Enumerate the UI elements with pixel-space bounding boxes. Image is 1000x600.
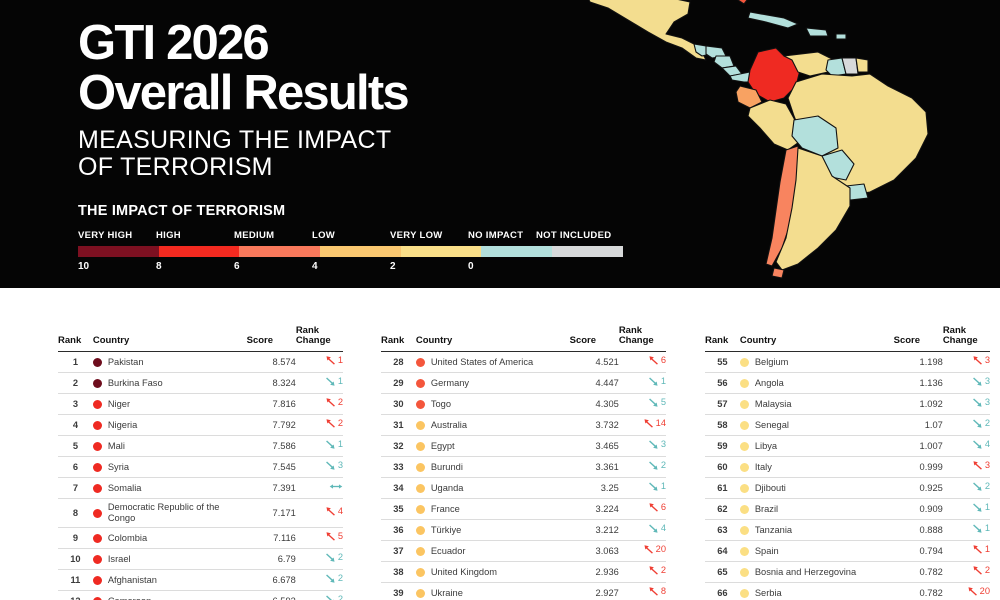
table-row[interactable]: 10Israel6.792	[58, 549, 343, 570]
cell-score: 6.593	[247, 591, 296, 600]
rank-down-arrow-icon	[648, 397, 659, 408]
impact-level-dot-icon	[93, 421, 102, 430]
map-region-florida	[736, 0, 750, 4]
cell-score: 3.732	[570, 415, 619, 436]
cell-score: 3.361	[570, 457, 619, 478]
table-row[interactable]: 60Italy0.9993	[705, 457, 990, 478]
cell-country: Cameroon	[93, 591, 247, 600]
impact-level-dot-icon	[93, 442, 102, 451]
cell-rank: 65	[705, 562, 740, 583]
map-region-bolivia	[792, 116, 838, 156]
cell-rank-change: 1	[619, 478, 666, 499]
cell-rank: 31	[381, 415, 416, 436]
cell-country: Pakistan	[93, 352, 247, 373]
impact-legend: THE IMPACT OF TERRORISM VERY HIGHHIGHMED…	[78, 203, 623, 275]
column-header-rank-change[interactable]: RankChange	[619, 326, 666, 352]
cell-rank: 64	[705, 541, 740, 562]
map-region-panama	[730, 72, 762, 82]
rank-up-arrow-icon	[967, 586, 978, 597]
cell-rank-change: 20	[943, 583, 990, 600]
rank-change-indicator: 2	[972, 565, 990, 576]
table-row[interactable]: 56Angola1.1363	[705, 373, 990, 394]
table-row[interactable]: 30Togo4.3055	[381, 394, 666, 415]
cell-country: Spain	[740, 541, 894, 562]
rank-change-value: 14	[656, 418, 666, 429]
table-row[interactable]: 5Mali7.5861	[58, 436, 343, 457]
column-header-rank-change[interactable]: RankChange	[943, 326, 990, 352]
rank-change-value: 1	[661, 481, 666, 492]
map-region-french-guiana	[856, 58, 868, 72]
cell-score: 1.007	[894, 436, 943, 457]
cell-score: 4.447	[570, 373, 619, 394]
column-header-score[interactable]: Score	[247, 326, 296, 352]
impact-level-dot-icon	[93, 534, 102, 543]
rank-up-arrow-icon	[972, 460, 983, 471]
rank-change-indicator: 4	[972, 439, 990, 450]
cell-score: 7.116	[247, 528, 296, 549]
map-region-uruguay	[846, 184, 868, 200]
country-name-label: Democratic Republic of the Congo	[108, 502, 247, 524]
table-row[interactable]: 61Djibouti0.9252	[705, 478, 990, 499]
cell-rank-change: 3	[943, 394, 990, 415]
cell-rank: 2	[58, 373, 93, 394]
map-region-cuba	[748, 12, 798, 28]
map-region-puerto-rico	[836, 34, 846, 39]
cell-rank-change: 3	[619, 436, 666, 457]
impact-level-dot-icon	[740, 358, 749, 367]
rank-up-arrow-icon	[325, 531, 336, 542]
world-map-choropleth	[570, 0, 1000, 288]
cell-score: 6.79	[247, 549, 296, 570]
table-row[interactable]: 28United States of America4.5216	[381, 352, 666, 373]
cell-country: Mali	[93, 436, 247, 457]
cell-rank-change: 2	[943, 415, 990, 436]
rank-change-indicator	[329, 481, 343, 492]
cell-score: 7.391	[247, 478, 296, 499]
rank-up-arrow-icon	[972, 565, 983, 576]
impact-level-dot-icon	[416, 526, 425, 535]
rank-change-indicator: 3	[972, 376, 990, 387]
cell-rank: 12	[58, 591, 93, 600]
table-row[interactable]: 6Syria7.5453	[58, 457, 343, 478]
cell-rank-change: 3	[943, 457, 990, 478]
impact-level-dot-icon	[416, 589, 425, 598]
rank-change-value: 2	[985, 481, 990, 492]
rank-down-arrow-icon	[325, 460, 336, 471]
cell-score: 3.212	[570, 520, 619, 541]
cell-rank-change: 4	[296, 499, 343, 528]
rank-change-value: 3	[985, 376, 990, 387]
table-row[interactable]: 1Pakistan8.5741	[58, 352, 343, 373]
cell-rank-change: 2	[296, 394, 343, 415]
table-row[interactable]: 66Serbia0.78220	[705, 583, 990, 600]
rank-change-value: 1	[338, 439, 343, 450]
impact-level-dot-icon	[93, 484, 102, 493]
cell-rank-change: 5	[296, 528, 343, 549]
cell-country: Burkina Faso	[93, 373, 247, 394]
impact-level-dot-icon	[740, 442, 749, 451]
rank-change-indicator: 1	[325, 355, 343, 366]
cell-score: 1.136	[894, 373, 943, 394]
rank-change-value: 5	[661, 397, 666, 408]
cell-score: 0.888	[894, 520, 943, 541]
rank-down-arrow-icon	[648, 460, 659, 471]
cell-rank: 55	[705, 352, 740, 373]
cell-rank-change: 2	[296, 591, 343, 600]
country-name-label: Germany	[431, 378, 469, 389]
rank-change-indicator: 1	[972, 523, 990, 534]
cell-rank-change: 2	[619, 562, 666, 583]
impact-level-dot-icon	[740, 568, 749, 577]
rank-change-indicator: 3	[972, 460, 990, 471]
impact-level-dot-icon	[416, 484, 425, 493]
map-region-venezuela	[784, 52, 834, 76]
rank-up-arrow-icon	[643, 544, 654, 555]
table-row[interactable]: 39Ukraine2.9278	[381, 583, 666, 600]
map-region-ecuador	[736, 86, 762, 108]
cell-score: 2.927	[570, 583, 619, 600]
impact-level-dot-icon	[740, 589, 749, 598]
rank-change-value: 20	[980, 586, 990, 597]
country-name-label: Italy	[755, 462, 772, 473]
cell-rank: 6	[58, 457, 93, 478]
legend-tick-5: 0	[468, 261, 474, 272]
cell-rank-change: 2	[296, 570, 343, 591]
impact-level-dot-icon	[416, 400, 425, 409]
rank-change-indicator: 2	[325, 552, 343, 563]
table-row[interactable]: 64Spain0.7941	[705, 541, 990, 562]
cell-score: 7.545	[247, 457, 296, 478]
country-name-label: Syria	[108, 462, 129, 473]
cell-rank-change: 14	[619, 415, 666, 436]
cell-rank-change	[296, 478, 343, 499]
cell-country: Tanzania	[740, 520, 894, 541]
rank-change-value: 1	[985, 544, 990, 555]
rank-change-indicator: 1	[648, 376, 666, 387]
rank-change-indicator: 1	[325, 376, 343, 387]
cell-country: Togo	[416, 394, 570, 415]
table-row[interactable]: 12Cameroon6.5932	[58, 591, 343, 600]
cell-rank-change: 3	[296, 457, 343, 478]
rank-down-arrow-icon	[648, 481, 659, 492]
cell-rank-change: 6	[619, 352, 666, 373]
table-row[interactable]: 55Belgium1.1983	[705, 352, 990, 373]
cell-country: Italy	[740, 457, 894, 478]
cell-rank-change: 6	[619, 499, 666, 520]
rank-change-value: 8	[661, 586, 666, 597]
table-row[interactable]: 65Bosnia and Herzegovina0.7822	[705, 562, 990, 583]
rank-change-value: 4	[661, 523, 666, 534]
legend-tick-3: 4	[312, 261, 318, 272]
table-row[interactable]: 58Senegal1.072	[705, 415, 990, 436]
table-row[interactable]: 2Burkina Faso8.3241	[58, 373, 343, 394]
map-region-chile	[766, 146, 800, 266]
column-header-score[interactable]: Score	[894, 326, 943, 352]
impact-level-dot-icon	[93, 509, 102, 518]
table-row[interactable]: 57Malaysia1.0923	[705, 394, 990, 415]
rank-up-arrow-icon	[325, 355, 336, 366]
column-header-rank[interactable]: Rank	[705, 326, 740, 352]
cell-country: Nigeria	[93, 415, 247, 436]
country-name-label: Pakistan	[108, 357, 144, 368]
cell-country: Israel	[93, 549, 247, 570]
country-name-label: Togo	[431, 399, 451, 410]
column-header-rank[interactable]: Rank	[381, 326, 416, 352]
column-header-rank-change[interactable]: RankChange	[296, 326, 343, 352]
impact-level-dot-icon	[93, 597, 102, 600]
map-region-honduras	[706, 46, 726, 58]
map-region-nicaragua	[714, 56, 734, 68]
cell-rank: 5	[58, 436, 93, 457]
table-row[interactable]: 63Tanzania0.8881	[705, 520, 990, 541]
rank-change-value: 2	[985, 565, 990, 576]
cell-rank-change: 1	[943, 541, 990, 562]
rank-up-arrow-icon	[325, 397, 336, 408]
legend-tick-1: 8	[156, 261, 162, 272]
column-header-country[interactable]: Country	[740, 326, 894, 352]
rank-change-indicator: 3	[325, 460, 343, 471]
impact-level-dot-icon	[416, 442, 425, 451]
map-svg	[570, 0, 1000, 288]
cell-score: 7.586	[247, 436, 296, 457]
impact-level-dot-icon	[416, 547, 425, 556]
country-name-label: Türkiye	[431, 525, 461, 536]
rank-change-value: 3	[338, 460, 343, 471]
cell-rank: 56	[705, 373, 740, 394]
rank-change-indicator: 2	[325, 573, 343, 584]
cell-rank: 37	[381, 541, 416, 562]
cell-score: 3.224	[570, 499, 619, 520]
cell-rank-change: 2	[943, 478, 990, 499]
rank-change-value: 5	[338, 531, 343, 542]
rank-change-indicator: 2	[325, 594, 343, 600]
rank-change-value: 2	[338, 573, 343, 584]
impact-level-dot-icon	[740, 505, 749, 514]
legend-label-2: MEDIUM	[234, 230, 274, 241]
legend-segment-no-impact	[481, 246, 552, 257]
rank-change-value: 1	[338, 355, 343, 366]
table-row[interactable]: 3Niger7.8162	[58, 394, 343, 415]
map-region-mexico	[584, 0, 706, 60]
column-header-country[interactable]: Country	[416, 326, 570, 352]
rank-down-arrow-icon	[648, 376, 659, 387]
rank-change-indicator: 2	[325, 397, 343, 408]
gti-overall-results-page: GTI 2026 Overall Results MEASURING THE I…	[0, 0, 1000, 600]
country-name-label: Burundi	[431, 462, 463, 473]
column-header-score[interactable]: Score	[570, 326, 619, 352]
rank-change-value: 4	[338, 506, 343, 517]
country-name-label: Bosnia and Herzegovina	[755, 567, 856, 578]
table-row[interactable]: 32Egypt3.4653	[381, 436, 666, 457]
impact-level-dot-icon	[740, 400, 749, 409]
table-row[interactable]: 7Somalia7.391	[58, 478, 343, 499]
cell-rank-change: 4	[943, 436, 990, 457]
table-row[interactable]: 4Nigeria7.7922	[58, 415, 343, 436]
cell-score: 8.324	[247, 373, 296, 394]
map-region-suriname	[842, 58, 858, 74]
country-name-label: Afghanistan	[108, 575, 157, 586]
table-row[interactable]: 59Libya1.0074	[705, 436, 990, 457]
cell-rank-change: 1	[296, 352, 343, 373]
hero-text-block: GTI 2026 Overall Results MEASURING THE I…	[78, 18, 408, 181]
rank-change-indicator: 1	[648, 481, 666, 492]
map-region-guyana	[826, 58, 846, 76]
cell-rank: 8	[58, 499, 93, 528]
rank-change-indicator: 4	[325, 506, 343, 517]
country-name-label: France	[431, 504, 460, 515]
rank-up-arrow-icon	[325, 506, 336, 517]
rank-change-indicator: 20	[967, 586, 990, 597]
rank-change-indicator: 3	[648, 439, 666, 450]
rank-down-arrow-icon	[325, 376, 336, 387]
impact-level-dot-icon	[740, 421, 749, 430]
map-background	[570, 0, 1000, 288]
rank-change-indicator: 6	[648, 355, 666, 366]
legend-label-3: LOW	[312, 230, 335, 241]
cell-rank: 11	[58, 570, 93, 591]
cell-rank-change: 3	[943, 373, 990, 394]
cell-rank: 62	[705, 499, 740, 520]
legend-label-6: NOT INCLUDED	[536, 230, 611, 241]
table-row[interactable]: 31Australia3.73214	[381, 415, 666, 436]
rank-down-arrow-icon	[972, 523, 983, 534]
country-name-label: Ukraine	[431, 588, 463, 599]
impact-level-dot-icon	[93, 463, 102, 472]
table-row[interactable]: 38United Kingdom2.9362	[381, 562, 666, 583]
country-name-label: Mali	[108, 441, 125, 452]
table-row[interactable]: 33Burundi3.3612	[381, 457, 666, 478]
rank-change-value: 1	[661, 376, 666, 387]
results-table-column-1: RankCountryScoreRankChange1Pakistan8.574…	[58, 326, 343, 600]
legend-segment-not-included	[552, 246, 623, 257]
country-name-label: Somalia	[108, 483, 142, 494]
rank-change-value: 2	[661, 565, 666, 576]
results-table-2: RankCountryScoreRankChange28United State…	[381, 326, 666, 600]
results-table-1: RankCountryScoreRankChange1Pakistan8.574…	[58, 326, 343, 600]
impact-level-dot-icon	[416, 463, 425, 472]
cell-rank-change: 1	[296, 436, 343, 457]
cell-rank-change: 1	[943, 520, 990, 541]
rank-down-arrow-icon	[972, 376, 983, 387]
country-name-label: Cameroon	[108, 596, 151, 600]
table-row[interactable]: 9Colombia7.1165	[58, 528, 343, 549]
cell-country: United Kingdom	[416, 562, 570, 583]
impact-level-dot-icon	[93, 379, 102, 388]
cell-country: Bosnia and Herzegovina	[740, 562, 894, 583]
cell-rank: 10	[58, 549, 93, 570]
rank-change-indicator: 2	[972, 418, 990, 429]
table-row[interactable]: 62Brazil0.9091	[705, 499, 990, 520]
legend-color-bar	[78, 246, 623, 257]
cell-score: 0.794	[894, 541, 943, 562]
cell-rank-change: 2	[943, 562, 990, 583]
table-header-row: RankCountryScoreRankChange	[705, 326, 990, 352]
country-name-label: Angola	[755, 378, 784, 389]
rank-change-value: 3	[985, 397, 990, 408]
table-row[interactable]: 11Afghanistan6.6782	[58, 570, 343, 591]
table-row[interactable]: 37Ecuador3.06320	[381, 541, 666, 562]
cell-rank-change: 2	[619, 457, 666, 478]
rank-change-value: 3	[985, 460, 990, 471]
cell-rank-change: 3	[943, 352, 990, 373]
rank-up-arrow-icon	[648, 502, 659, 513]
cell-score: 8.574	[247, 352, 296, 373]
cell-rank: 34	[381, 478, 416, 499]
table-row[interactable]: 29Germany4.4471	[381, 373, 666, 394]
cell-rank: 30	[381, 394, 416, 415]
country-name-label: Australia	[431, 420, 467, 431]
cell-rank: 39	[381, 583, 416, 600]
cell-score: 3.063	[570, 541, 619, 562]
legend-label-1: HIGH	[156, 230, 181, 241]
cell-country: Germany	[416, 373, 570, 394]
rank-down-arrow-icon	[325, 552, 336, 563]
cell-country: Brazil	[740, 499, 894, 520]
impact-level-dot-icon	[93, 555, 102, 564]
cell-score: 1.092	[894, 394, 943, 415]
legend-tick-0: 10	[78, 261, 89, 272]
legend-segment-medium	[239, 246, 320, 257]
rank-down-arrow-icon	[972, 439, 983, 450]
cell-country: Serbia	[740, 583, 894, 600]
cell-rank: 63	[705, 520, 740, 541]
cell-score: 6.678	[247, 570, 296, 591]
table-row[interactable]: 8Democratic Republic of the Congo7.1714	[58, 499, 343, 528]
page-title-line-2: Overall Results	[78, 68, 408, 118]
country-name-label: Ecuador	[431, 546, 466, 557]
results-table-3: RankCountryScoreRankChange55Belgium1.198…	[705, 326, 990, 600]
rank-change-value: 2	[338, 594, 343, 600]
column-header-country[interactable]: Country	[93, 326, 247, 352]
table-row[interactable]: 36Türkiye3.2124	[381, 520, 666, 541]
results-table-column-2: RankCountryScoreRankChange28United State…	[381, 326, 666, 600]
legend-labels: VERY HIGHHIGHMEDIUMLOWVERY LOWNO IMPACTN…	[78, 230, 623, 242]
country-name-label: United States of America	[431, 357, 533, 368]
table-row[interactable]: 34Uganda3.251	[381, 478, 666, 499]
cell-rank-change: 8	[619, 583, 666, 600]
cell-country: Türkiye	[416, 520, 570, 541]
map-region-brazil	[788, 74, 928, 196]
cell-country: France	[416, 499, 570, 520]
rank-change-indicator: 20	[643, 544, 666, 555]
rank-change-indicator: 4	[648, 523, 666, 534]
rank-change-value: 2	[338, 418, 343, 429]
cell-country: Afghanistan	[93, 570, 247, 591]
cell-score: 7.792	[247, 415, 296, 436]
column-header-rank[interactable]: Rank	[58, 326, 93, 352]
rank-up-arrow-icon	[972, 355, 983, 366]
impact-level-dot-icon	[740, 484, 749, 493]
rank-up-arrow-icon	[648, 565, 659, 576]
map-region-colombia	[748, 48, 800, 102]
rank-change-indicator: 1	[972, 544, 990, 555]
cell-rank-change: 2	[296, 549, 343, 570]
cell-country: Senegal	[740, 415, 894, 436]
rank-change-value: 6	[661, 502, 666, 513]
cell-rank: 28	[381, 352, 416, 373]
cell-rank: 35	[381, 499, 416, 520]
legend-label-5: NO IMPACT	[468, 230, 523, 241]
rank-change-indicator: 2	[648, 565, 666, 576]
cell-rank: 59	[705, 436, 740, 457]
cell-country: Syria	[93, 457, 247, 478]
cell-country: Burundi	[416, 457, 570, 478]
cell-country: Belgium	[740, 352, 894, 373]
rank-down-arrow-icon	[648, 523, 659, 534]
rank-change-value: 3	[661, 439, 666, 450]
cell-country: Colombia	[93, 528, 247, 549]
table-row[interactable]: 35France3.2246	[381, 499, 666, 520]
